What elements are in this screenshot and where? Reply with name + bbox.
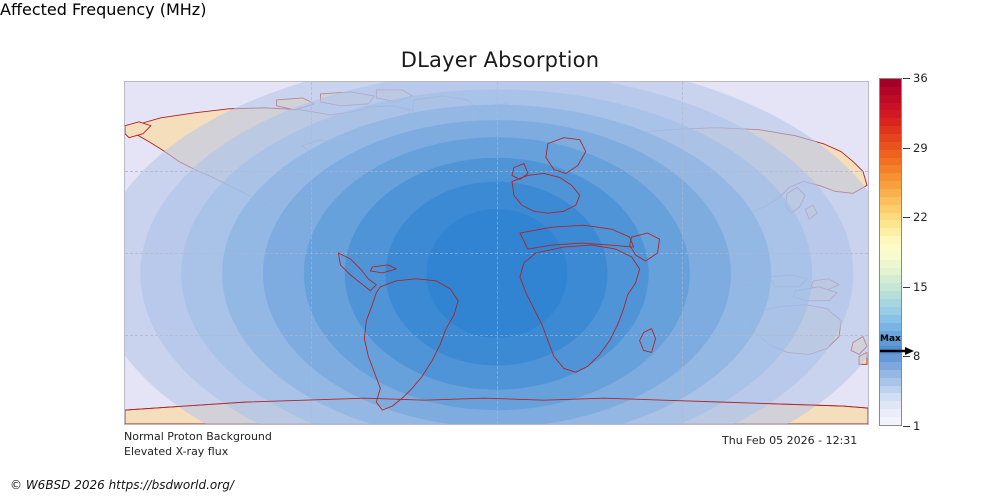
colorbar-tick-1 [903, 426, 910, 427]
colorbar-segment-14 [880, 189, 901, 197]
colorbar-tick-8 [903, 356, 910, 357]
map-inner [125, 82, 868, 424]
colorbar-segment-32 [880, 331, 901, 339]
world-map-panel[interactable] [124, 81, 869, 425]
colorbar-segment-19 [880, 228, 901, 236]
colorbar-segment-21 [880, 244, 901, 252]
colorbar-segment-6 [880, 126, 901, 134]
colorbar-segment-9 [880, 150, 901, 158]
dlayer-absorption-figure: DLayer Absorption [0, 0, 1000, 500]
colorbar-segment-7 [880, 134, 901, 142]
colorbar-tick-36 [903, 78, 910, 79]
colorbar-axis-label: Affected Frequency (MHz) [0, 0, 1000, 19]
colorbar-segment-25 [880, 275, 901, 283]
colorbar[interactable]: 3629221581 Max [879, 78, 902, 426]
colorbar-segment-39 [880, 386, 901, 394]
colorbar-segment-31 [880, 323, 901, 331]
colorbar-tick-label-15: 15 [913, 280, 928, 294]
colorbar-segment-12 [880, 173, 901, 181]
colorbar-tick-15 [903, 287, 910, 288]
colorbar-segment-34 [880, 346, 901, 354]
colorbar-segment-43 [880, 417, 901, 425]
colorbar-segment-41 [880, 401, 901, 409]
colorbar-segment-20 [880, 236, 901, 244]
colorbar-segment-33 [880, 338, 901, 346]
coastline-overlay [125, 82, 868, 424]
colorbar-segment-13 [880, 181, 901, 189]
colorbar-segment-28 [880, 299, 901, 307]
page-title: DLayer Absorption [0, 48, 1000, 72]
colorbar-segment-30 [880, 315, 901, 323]
colorbar-tick-label-8: 8 [913, 349, 920, 363]
colorbar-tick-label-1: 1 [913, 419, 920, 433]
colorbar-segment-29 [880, 307, 901, 315]
annotation-xray-flux: Elevated X-ray flux [124, 445, 228, 458]
colorbar-segment-26 [880, 283, 901, 291]
colorbar-gradient [879, 78, 902, 426]
colorbar-segment-23 [880, 260, 901, 268]
colorbar-segment-42 [880, 409, 901, 417]
colorbar-tick-22 [903, 217, 910, 218]
colorbar-segment-2 [880, 95, 901, 103]
colorbar-tick-label-29: 29 [913, 141, 928, 155]
colorbar-segment-10 [880, 158, 901, 166]
colorbar-segment-22 [880, 252, 901, 260]
colorbar-segment-15 [880, 197, 901, 205]
colorbar-segment-5 [880, 118, 901, 126]
timestamp-label: Thu Feb 05 2026 - 12:31 [722, 434, 857, 447]
colorbar-segment-8 [880, 142, 901, 150]
colorbar-segment-27 [880, 291, 901, 299]
colorbar-segment-35 [880, 354, 901, 362]
colorbar-segment-24 [880, 268, 901, 276]
colorbar-segment-17 [880, 213, 901, 221]
colorbar-segment-40 [880, 393, 901, 401]
colorbar-segment-3 [880, 103, 901, 111]
copyright-credit: © W6BSD 2026 https://bsdworld.org/ [10, 478, 234, 492]
colorbar-segment-36 [880, 362, 901, 370]
colorbar-segment-4 [880, 110, 901, 118]
colorbar-tick-29 [903, 148, 910, 149]
colorbar-segment-18 [880, 220, 901, 228]
colorbar-segment-0 [880, 79, 901, 87]
annotation-proton-background: Normal Proton Background [124, 430, 272, 443]
colorbar-tick-label-22: 22 [913, 210, 928, 224]
colorbar-segment-38 [880, 378, 901, 386]
colorbar-segment-37 [880, 370, 901, 378]
colorbar-segment-1 [880, 87, 901, 95]
colorbar-segment-16 [880, 205, 901, 213]
colorbar-segment-11 [880, 165, 901, 173]
colorbar-tick-label-36: 36 [913, 71, 928, 85]
